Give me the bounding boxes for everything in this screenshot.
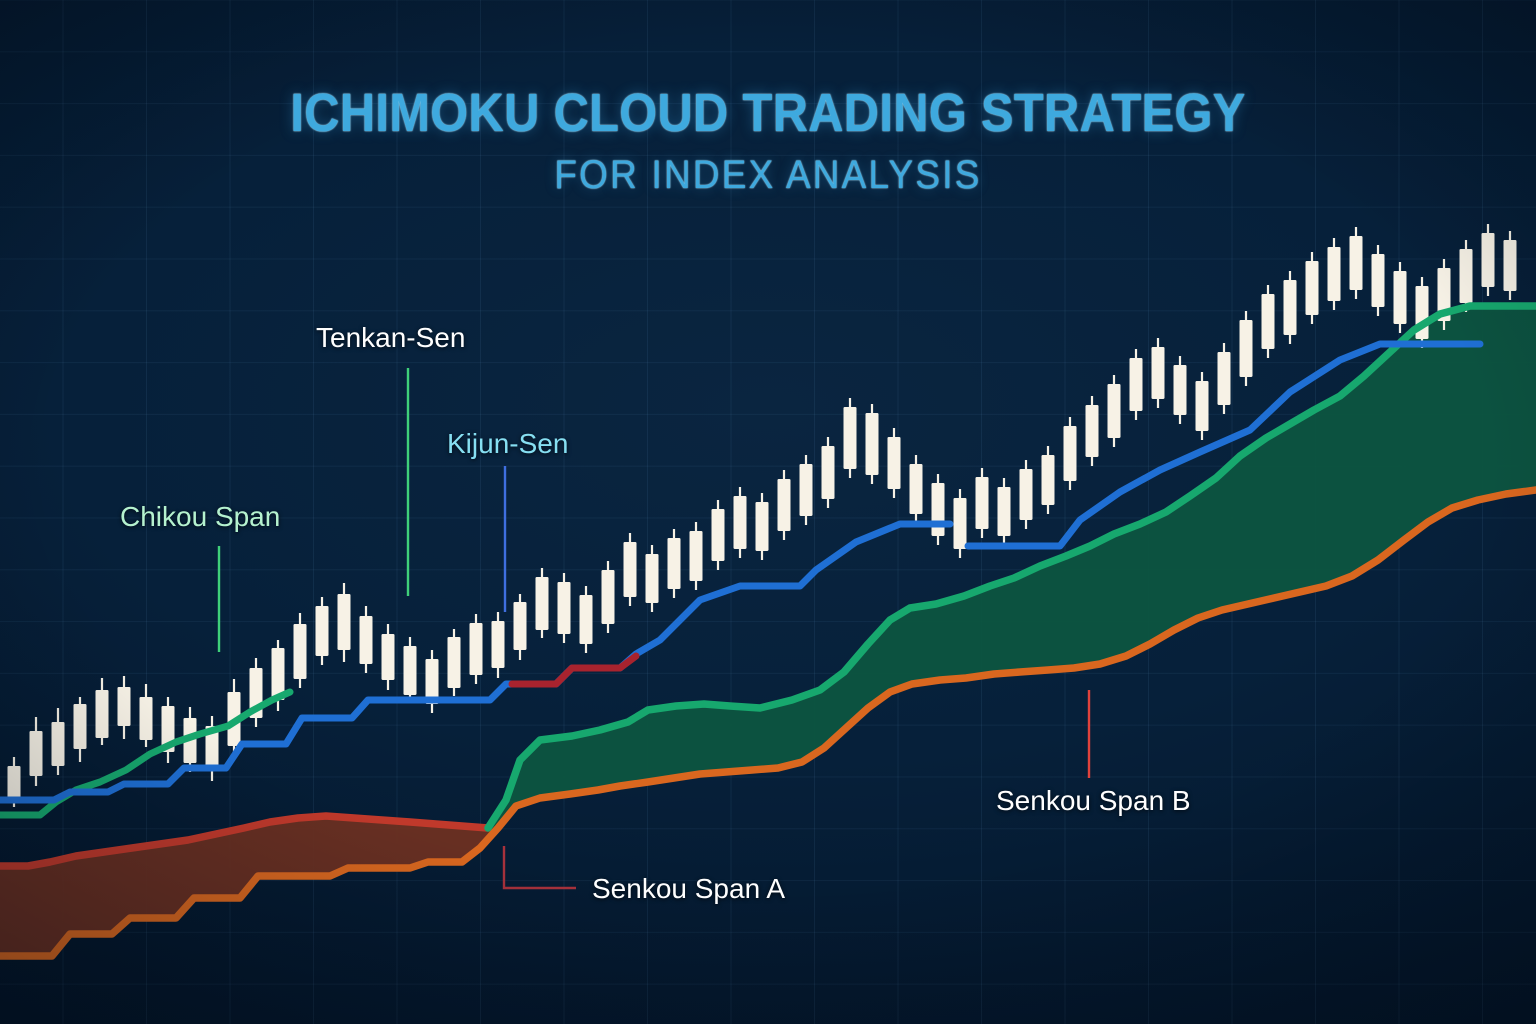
- candle-body: [1086, 405, 1099, 457]
- candle-body: [316, 606, 329, 656]
- candle-body: [712, 509, 725, 561]
- chart-plot-area: [0, 0, 1536, 1024]
- candle-body: [866, 413, 879, 475]
- candle-body: [844, 407, 857, 469]
- candle-body: [1504, 240, 1517, 291]
- candle-body: [360, 616, 373, 664]
- candle-body: [382, 634, 395, 680]
- candle-body: [30, 731, 43, 776]
- candle-body: [118, 687, 131, 726]
- candle-body: [932, 483, 945, 536]
- candle-body: [1108, 384, 1121, 438]
- candle-body: [52, 722, 65, 766]
- candle-body: [822, 446, 835, 499]
- candle-body: [8, 766, 21, 800]
- candle-body: [976, 477, 989, 529]
- candle-body: [1350, 236, 1363, 290]
- candle-body: [1372, 254, 1385, 307]
- candle-body: [1218, 352, 1231, 405]
- candle-body: [1196, 381, 1209, 431]
- candle-body: [558, 582, 571, 634]
- candle-body: [646, 554, 659, 603]
- candle-body: [96, 690, 109, 738]
- candle-body: [1174, 365, 1187, 415]
- candle-body: [800, 464, 813, 516]
- candle-body: [954, 498, 967, 549]
- leader-line-senkou-span-a: [504, 846, 576, 888]
- candle-body: [1240, 320, 1253, 377]
- candle-body: [1042, 455, 1055, 505]
- candle-body: [1284, 280, 1297, 335]
- candle-body: [294, 624, 307, 679]
- candle-body: [668, 538, 681, 589]
- candle-body: [1262, 294, 1275, 349]
- candle-body: [404, 646, 417, 695]
- candle-body: [910, 464, 923, 514]
- candle-body: [448, 637, 461, 688]
- candle-body: [602, 570, 615, 624]
- candle-body: [470, 623, 483, 675]
- ichimoku-chart-infographic: ICHIMOKU CLOUD TRADING STRATEGY FOR INDE…: [0, 0, 1536, 1024]
- candle-body: [998, 487, 1011, 536]
- line-kijun-cross-highlight: [512, 656, 636, 684]
- candle-body: [1482, 233, 1495, 287]
- candle-body: [492, 621, 505, 668]
- candle-body: [888, 437, 901, 489]
- candle-body: [1064, 426, 1077, 481]
- candle-body: [1130, 358, 1143, 411]
- candle-body: [1020, 469, 1033, 520]
- candle-body: [1328, 247, 1341, 301]
- candle-body: [1460, 249, 1473, 303]
- candle-body: [690, 531, 703, 581]
- candle-body: [338, 594, 351, 650]
- candle-body: [734, 496, 747, 549]
- candle-body: [624, 542, 637, 597]
- candle-body: [536, 577, 549, 630]
- candle-body: [74, 704, 87, 749]
- candle-body: [514, 602, 527, 650]
- candle-body: [778, 479, 791, 531]
- candle-body: [580, 595, 593, 644]
- candle-body: [1306, 261, 1319, 315]
- candle-body: [1152, 347, 1165, 399]
- candle-body: [140, 697, 153, 740]
- candle-body: [1394, 271, 1407, 324]
- candle-body: [756, 502, 769, 551]
